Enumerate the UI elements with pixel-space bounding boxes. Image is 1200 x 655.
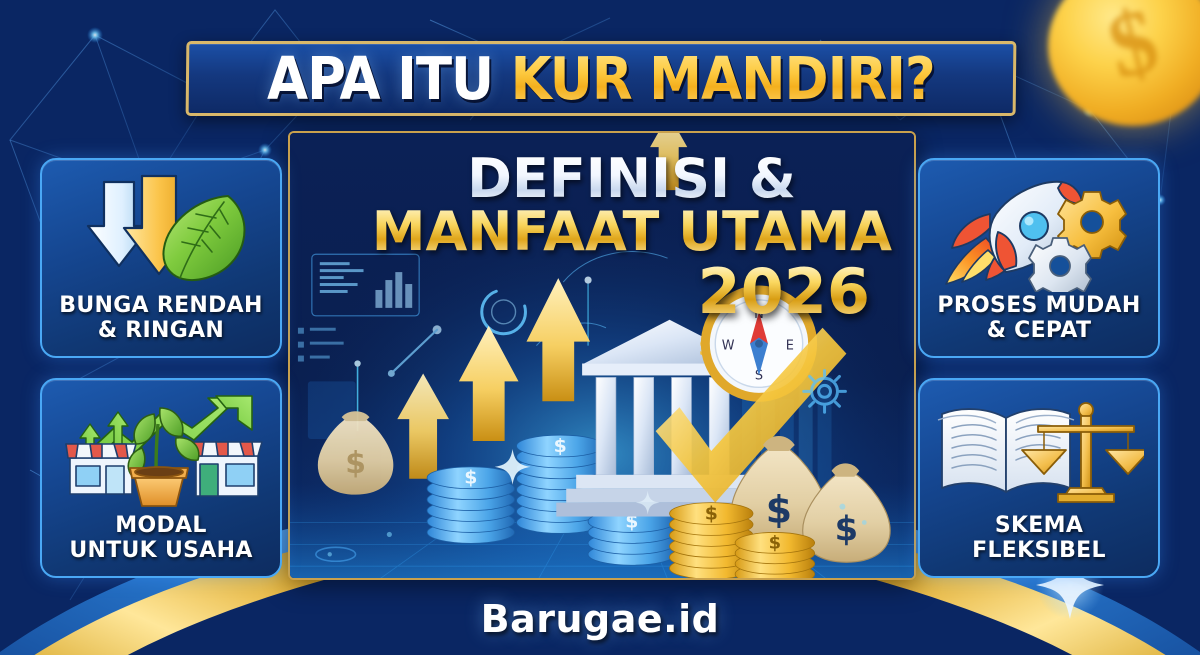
card-label-skema-fleksibel: SKEMA FLEKSIBEL [966, 514, 1112, 563]
feature-card-skema-fleksibel[interactable]: SKEMA FLEKSIBEL [918, 378, 1160, 578]
card-label-line2: UNTUK USAHA [69, 538, 252, 563]
card-label-bunga-rendah: BUNGA RENDAH & RINGAN [53, 294, 268, 343]
main-content-panel: $ $ $ [288, 131, 916, 580]
card-label-modal-usaha: MODAL UNTUK USAHA [63, 514, 258, 563]
card-art-proses-mudah [934, 174, 1144, 292]
headline-line-1: DEFINISI & [290, 153, 892, 206]
card-label-line2: & RINGAN [98, 318, 224, 343]
svg-text:$: $ [464, 467, 477, 489]
title-text-white: APA ITU [267, 44, 511, 113]
svg-text:$: $ [345, 446, 366, 481]
feature-card-bunga-rendah[interactable]: BUNGA RENDAH & RINGAN [40, 158, 282, 358]
headline: DEFINISI & MANFAAT UTAMA 2026 [290, 153, 892, 323]
svg-text:$: $ [705, 503, 718, 525]
footer: Barugae.id [0, 597, 1200, 641]
feature-card-modal-usaha[interactable]: MODAL UNTUK USAHA [40, 378, 282, 578]
headline-line-2: MANFAAT UTAMA [290, 204, 892, 259]
title-text-gold: KUR MANDIRI? [511, 44, 935, 113]
card-label-line1: MODAL [115, 513, 206, 538]
card-art-modal-usaha [56, 394, 266, 512]
card-label-proses-mudah: PROSES MUDAH & CEPAT [931, 294, 1146, 343]
dollar-sign-icon: $ [1098, 0, 1168, 100]
card-label-line1: BUNGA RENDAH [59, 293, 262, 318]
svg-text:$: $ [766, 487, 792, 531]
card-label-line1: PROSES MUDAH [937, 293, 1140, 318]
svg-text:E: E [786, 339, 794, 354]
brand-name: Barugae.id [481, 597, 720, 641]
svg-text:W: W [722, 339, 735, 354]
card-label-line2: & CEPAT [987, 318, 1092, 343]
poster-canvas: $ [0, 0, 1200, 655]
card-art-bunga-rendah [56, 174, 266, 292]
svg-text:$: $ [554, 435, 567, 457]
headline-year: 2026 [290, 261, 892, 323]
title-banner: APA ITU KUR MANDIRI? [186, 41, 1017, 116]
card-label-line1: SKEMA [995, 513, 1083, 538]
card-art-skema-fleksibel [934, 394, 1144, 512]
svg-text:$: $ [769, 532, 781, 553]
svg-text:$: $ [835, 509, 859, 548]
card-label-line2: FLEKSIBEL [972, 538, 1106, 563]
feature-card-proses-mudah[interactable]: PROSES MUDAH & CEPAT [918, 158, 1160, 358]
